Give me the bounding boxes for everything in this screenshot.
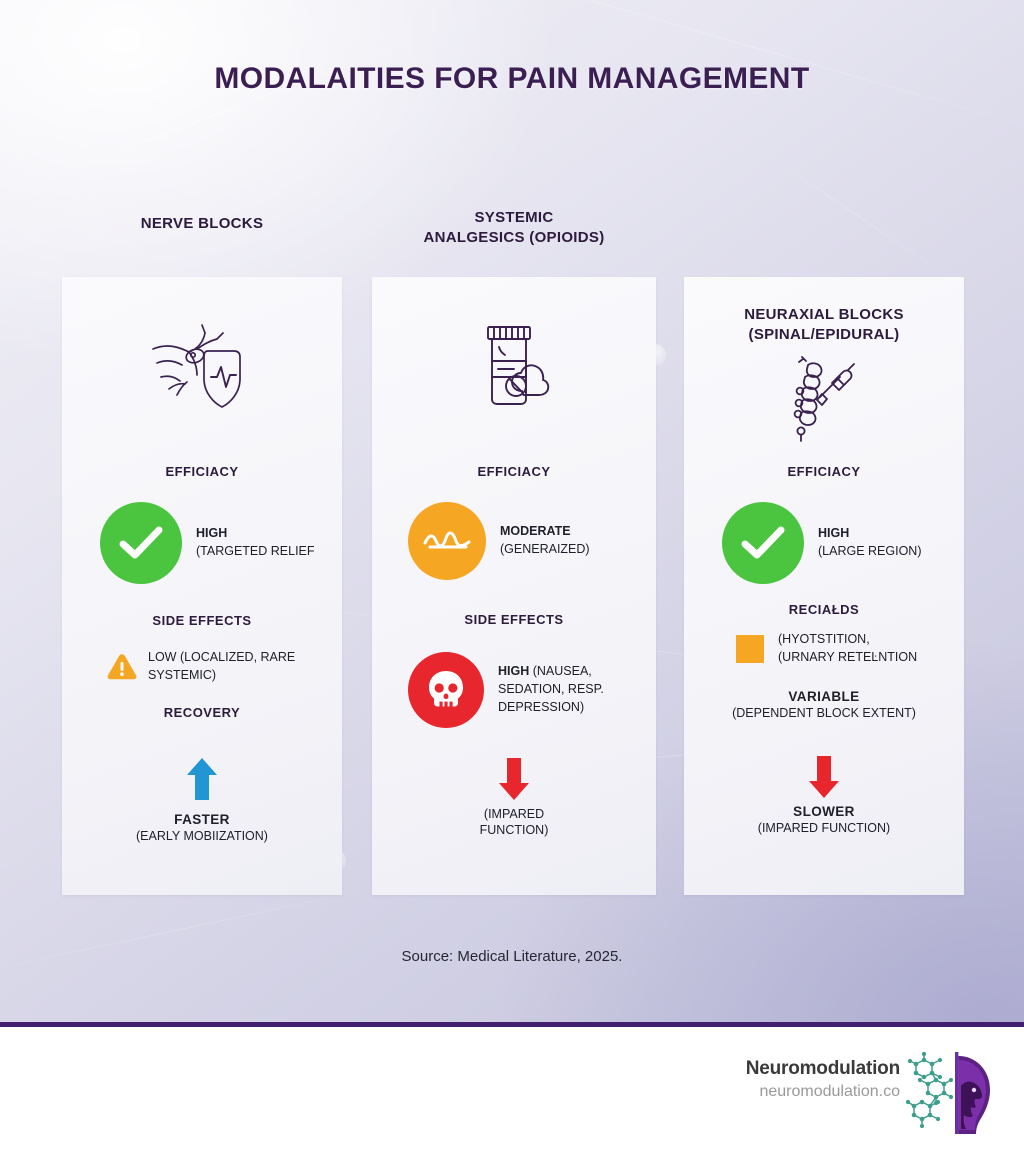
efficacy-label: EFFICIACY bbox=[62, 464, 342, 479]
efficacy-row: HIGH (LARGE REGION) bbox=[722, 502, 952, 584]
column-heading-neuraxial-blocks: NEURAXIAL BLOCKS (SPINAL/EPIDURAL) bbox=[684, 305, 964, 346]
variable-strong: VARIABLE bbox=[684, 689, 964, 704]
arrow-down-icon bbox=[496, 755, 532, 803]
source-note: Source: Medical Literature, 2025. bbox=[0, 948, 1024, 965]
side-effects-label: RECIAŁDS bbox=[684, 602, 964, 617]
side-effects-text: LOW (LOCALIZED, RARE SYSTEMIC) bbox=[148, 649, 332, 685]
brand-block: Neuromodulation neuromodulation.co bbox=[746, 1058, 900, 1102]
efficacy-text: HIGH (LARGE REGION) bbox=[818, 525, 922, 561]
efficacy-detail: (LARGE REGION) bbox=[818, 544, 922, 558]
spine-syringe-icon bbox=[774, 353, 874, 445]
outcome-text: (IMPARED FUNCTION) bbox=[372, 807, 656, 837]
column-heading-line1: NEURAXIAL BLOCKS bbox=[684, 305, 964, 325]
variable-detail: (DEPENDENT BLOCK EXTENT) bbox=[684, 706, 964, 720]
page-title: MODALAITIES FOR PAIN MANAGEMENT bbox=[0, 62, 1024, 96]
efficacy-detail: (TARGETED RELIEF bbox=[196, 544, 315, 558]
infographic-canvas: MODALAITIES FOR PAIN MANAGEMENT NERVE BL… bbox=[0, 0, 1024, 1154]
side-effects-row: LOW (LOCALIZED, RARE SYSTEMIC) bbox=[106, 649, 332, 685]
modality-card-systemic-analgesics: EFFICIACY MODERATE (GENERAIZED) SIDE EFF… bbox=[372, 277, 656, 895]
side-effects-line1: (HYOTSTITION, bbox=[778, 632, 870, 646]
column-heading-line2: (SPINAL/EPIDURAL) bbox=[684, 325, 964, 345]
column-heading-line2: ANALGESICS (OPIOIDS) bbox=[372, 228, 656, 248]
modality-card-nerve-blocks: EFFICIACY HIGH (TARGETED RELIEF SIDE EFF… bbox=[62, 277, 342, 895]
recovery-outcome-strong: SLOWER bbox=[684, 804, 964, 819]
orange-square-icon bbox=[736, 635, 764, 663]
efficacy-row: MODERATE (GENERAIZED) bbox=[408, 502, 644, 580]
column-heading-line1: SYSTEMIC bbox=[372, 208, 656, 228]
side-effects-strong: HIGH bbox=[498, 664, 529, 678]
recovery-label: RECOVERY bbox=[62, 705, 342, 720]
side-effects-row: (HYOTSTITION, (URNARY RETEĿNTION bbox=[736, 631, 960, 667]
side-effects-label: SIDE EFFECTS bbox=[372, 612, 656, 627]
side-effects-label: SIDE EFFECTS bbox=[62, 613, 342, 628]
recovery-outcome-strong: FASTER bbox=[62, 812, 342, 827]
side-effects-line2: (URNARY RETEĿNTION bbox=[778, 650, 917, 664]
brand-name: Neuromodulation bbox=[746, 1058, 900, 1081]
efficacy-strong: HIGH bbox=[818, 526, 849, 540]
side-effects-text: HIGH (NAUSEA, SEDATION, RESP. DEPRESSION… bbox=[498, 663, 648, 716]
molecule-head-logo bbox=[906, 1050, 1010, 1136]
efficacy-label: EFFICIACY bbox=[372, 464, 656, 479]
recovery-outcome: FASTER (EARLY MOBIIZATION) bbox=[62, 812, 342, 843]
efficacy-strong: MODERATE bbox=[500, 524, 571, 538]
nerve-shield-icon bbox=[147, 319, 257, 415]
check-icon bbox=[722, 502, 804, 584]
efficacy-strong: HIGH bbox=[196, 526, 227, 540]
pill-bottle-cloud-icon bbox=[466, 321, 562, 413]
background-streak bbox=[725, 126, 974, 295]
arrow-up-icon bbox=[184, 755, 220, 803]
brand-url[interactable]: neuromodulation.co bbox=[746, 1082, 900, 1102]
warning-triangle-icon bbox=[106, 651, 138, 681]
efficacy-text: HIGH (TARGETED RELIEF bbox=[196, 525, 315, 561]
skull-icon bbox=[408, 652, 484, 728]
recovery-outcome-detail: (IMPARED FUNCTION) bbox=[684, 821, 964, 835]
variable-outcome: VARIABLE (DEPENDENT BLOCK EXTENT) bbox=[684, 689, 964, 720]
recovery-outcome: SLOWER (IMPARED FUNCTION) bbox=[684, 804, 964, 835]
column-heading-nerve-blocks: NERVE BLOCKS bbox=[62, 214, 342, 234]
side-effects-row: HIGH (NAUSEA, SEDATION, RESP. DEPRESSION… bbox=[408, 652, 648, 728]
outcome-detail-line2: FUNCTION) bbox=[372, 823, 656, 837]
side-effects-text: (HYOTSTITION, (URNARY RETEĿNTION bbox=[778, 631, 917, 667]
background-streak bbox=[0, 27, 443, 214]
recovery-outcome-detail: (EARLY MOBIIZATION) bbox=[62, 829, 342, 843]
outcome-detail-line1: (IMPARED bbox=[372, 807, 656, 821]
efficacy-label: EFFICIACY bbox=[684, 464, 964, 479]
efficacy-row: HIGH (TARGETED RELIEF bbox=[100, 502, 330, 584]
arrow-down-icon bbox=[806, 753, 842, 801]
efficacy-detail: (GENERAIZED) bbox=[500, 542, 590, 556]
column-heading-systemic-analgesics: SYSTEMIC ANALGESICS (OPIOIDS) bbox=[372, 208, 656, 249]
check-icon bbox=[100, 502, 182, 584]
waveform-icon bbox=[408, 502, 486, 580]
modality-card-neuraxial-blocks: NEURAXIAL BLOCKS (SPINAL/EPIDURAL) bbox=[684, 277, 964, 895]
efficacy-text: MODERATE (GENERAIZED) bbox=[500, 523, 590, 559]
column-heading-text: NERVE BLOCKS bbox=[141, 215, 264, 232]
